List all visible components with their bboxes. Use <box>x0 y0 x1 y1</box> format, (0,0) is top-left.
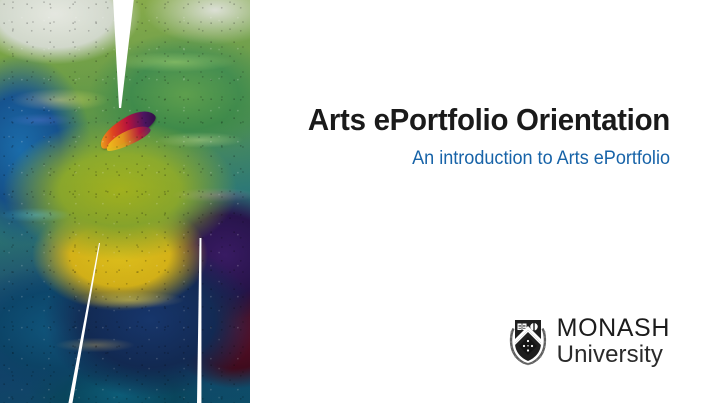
artwork-panel <box>0 0 250 403</box>
presentation-slide: Arts ePortfolio Orientation An introduct… <box>0 0 723 403</box>
slide-content: Arts ePortfolio Orientation An introduct… <box>250 0 723 403</box>
monash-university-logo: MONASH University <box>508 316 670 367</box>
monash-wordmark: MONASH University <box>557 316 670 367</box>
slide-subtitle: An introduction to Arts ePortfolio <box>271 148 670 171</box>
wordmark-university: University <box>557 343 670 367</box>
roundel-icon <box>530 323 538 331</box>
book-icon <box>517 324 526 331</box>
wordmark-monash: MONASH <box>557 316 670 341</box>
title-block: Arts ePortfolio Orientation An introduct… <box>250 103 670 171</box>
slide-title: Arts ePortfolio Orientation <box>271 103 670 138</box>
monash-shield-crest-icon <box>508 317 548 366</box>
